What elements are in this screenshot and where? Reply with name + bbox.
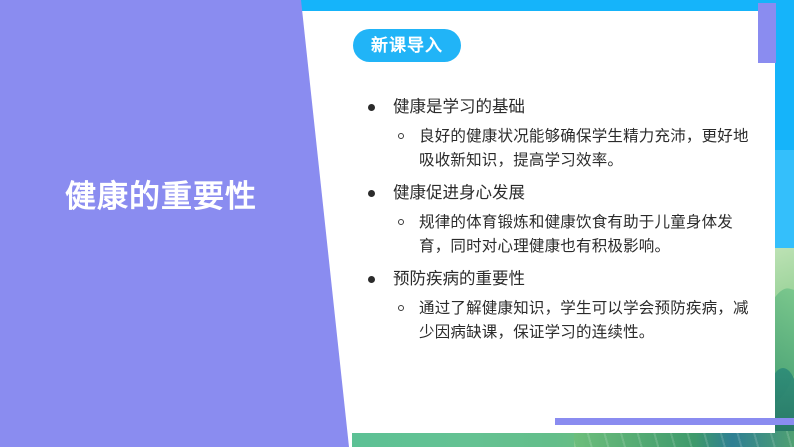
section-badge: 新课导入 bbox=[353, 29, 461, 62]
bullet-heading: 健康是学习的基础 bbox=[393, 96, 525, 120]
bullet-level2: 规律的体育锻炼和健康饮食有助于儿童身体发育，同时对心理健康也有积极影响。 bbox=[368, 211, 764, 259]
title-panel bbox=[0, 0, 352, 447]
bullet-level2: 通过了解健康知识，学生可以学会预防疾病，减少因病缺课，保证学习的连续性。 bbox=[368, 297, 764, 345]
bullet-list: 健康是学习的基础 良好的健康状况能够确保学生精力充沛，更好地吸收新知识，提高学习… bbox=[368, 96, 764, 354]
circle-bullet-icon bbox=[398, 133, 404, 139]
circle-bullet-icon bbox=[398, 219, 404, 225]
bullet-detail: 规律的体育锻炼和健康饮食有助于儿童身体发育，同时对心理健康也有积极影响。 bbox=[419, 211, 764, 259]
bullet-level1: 预防疾病的重要性 bbox=[368, 268, 764, 292]
page-title: 健康的重要性 bbox=[30, 178, 292, 215]
corner-accent-bar bbox=[758, 3, 776, 63]
circle-bullet-icon bbox=[398, 305, 404, 311]
bullet-level1: 健康促进身心发展 bbox=[368, 182, 764, 206]
top-accent-bar bbox=[300, 0, 794, 11]
bottom-foliage-leaves bbox=[574, 431, 794, 447]
bullet-heading: 预防疾病的重要性 bbox=[393, 268, 525, 292]
bullet-level1: 健康是学习的基础 bbox=[368, 96, 764, 120]
disc-bullet-icon bbox=[368, 104, 375, 111]
bullet-group: 预防疾病的重要性 通过了解健康知识，学生可以学会预防疾病，减少因病缺课，保证学习… bbox=[368, 268, 764, 345]
bullet-detail: 通过了解健康知识，学生可以学会预防疾病，减少因病缺课，保证学习的连续性。 bbox=[419, 297, 764, 345]
bullet-level2: 良好的健康状况能够确保学生精力充沛，更好地吸收新知识，提高学习效率。 bbox=[368, 125, 764, 173]
bullet-detail: 良好的健康状况能够确保学生精力充沛，更好地吸收新知识，提高学习效率。 bbox=[419, 125, 764, 173]
disc-bullet-icon bbox=[368, 190, 375, 197]
bottom-foliage-decoration bbox=[352, 431, 794, 447]
bullet-heading: 健康促进身心发展 bbox=[393, 182, 525, 206]
slide-canvas: 健康的重要性 新课导入 健康是学习的基础 良好的健康状况能够确保学生精力充沛，更… bbox=[0, 0, 794, 447]
bottom-accent-bar bbox=[555, 418, 794, 425]
bullet-group: 健康促进身心发展 规律的体育锻炼和健康饮食有助于儿童身体发育，同时对心理健康也有… bbox=[368, 182, 764, 259]
disc-bullet-icon bbox=[368, 276, 375, 283]
bullet-group: 健康是学习的基础 良好的健康状况能够确保学生精力充沛，更好地吸收新知识，提高学习… bbox=[368, 96, 764, 173]
